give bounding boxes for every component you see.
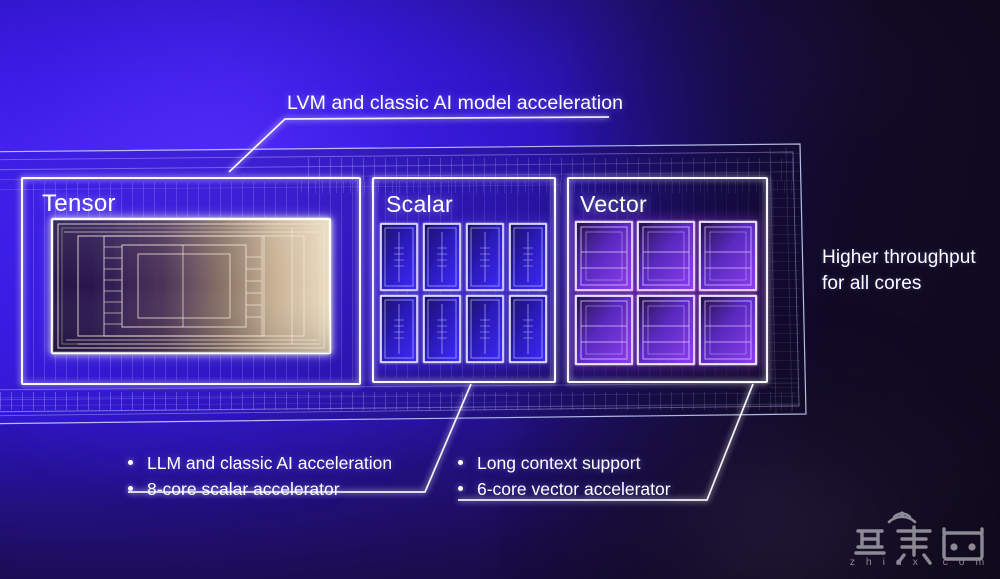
bullet-text: Long context support [477,450,640,476]
slide-photo: LVM and classic AI model acceleration Hi… [0,0,1000,579]
callout-title-lvm: LVM and classic AI model acceleration [287,92,623,115]
watermark-domain: z h i d x . c o m [848,556,990,568]
block-label-tensor: Tensor [42,190,116,218]
bullet-text: 8-core scalar accelerator [147,476,340,502]
list-item: Long context support [458,450,671,476]
callout-scalar-bullets: LLM and classic AI acceleration 8-core s… [128,450,392,502]
bullet-dot-icon [128,486,133,491]
vector-cores [576,222,756,364]
list-item: 6-core vector accelerator [458,476,671,502]
list-item: 8-core scalar accelerator [128,476,392,502]
list-item: LLM and classic AI acceleration [128,450,392,476]
block-label-scalar: Scalar [386,191,453,218]
block-label-vector: Vector [580,191,647,218]
bullet-dot-icon [458,486,463,491]
bullet-dot-icon [458,460,463,465]
bullet-dot-icon [128,460,133,465]
callout-higher-throughput: Higher throughput for all cores [822,245,997,297]
watermark-zhidx: z h i d x . c o m [848,505,990,571]
bullet-text: LLM and classic AI acceleration [147,450,392,476]
bullet-text: 6-core vector accelerator [477,476,671,502]
callout-vector-bullets: Long context support 6-core vector accel… [458,450,671,502]
